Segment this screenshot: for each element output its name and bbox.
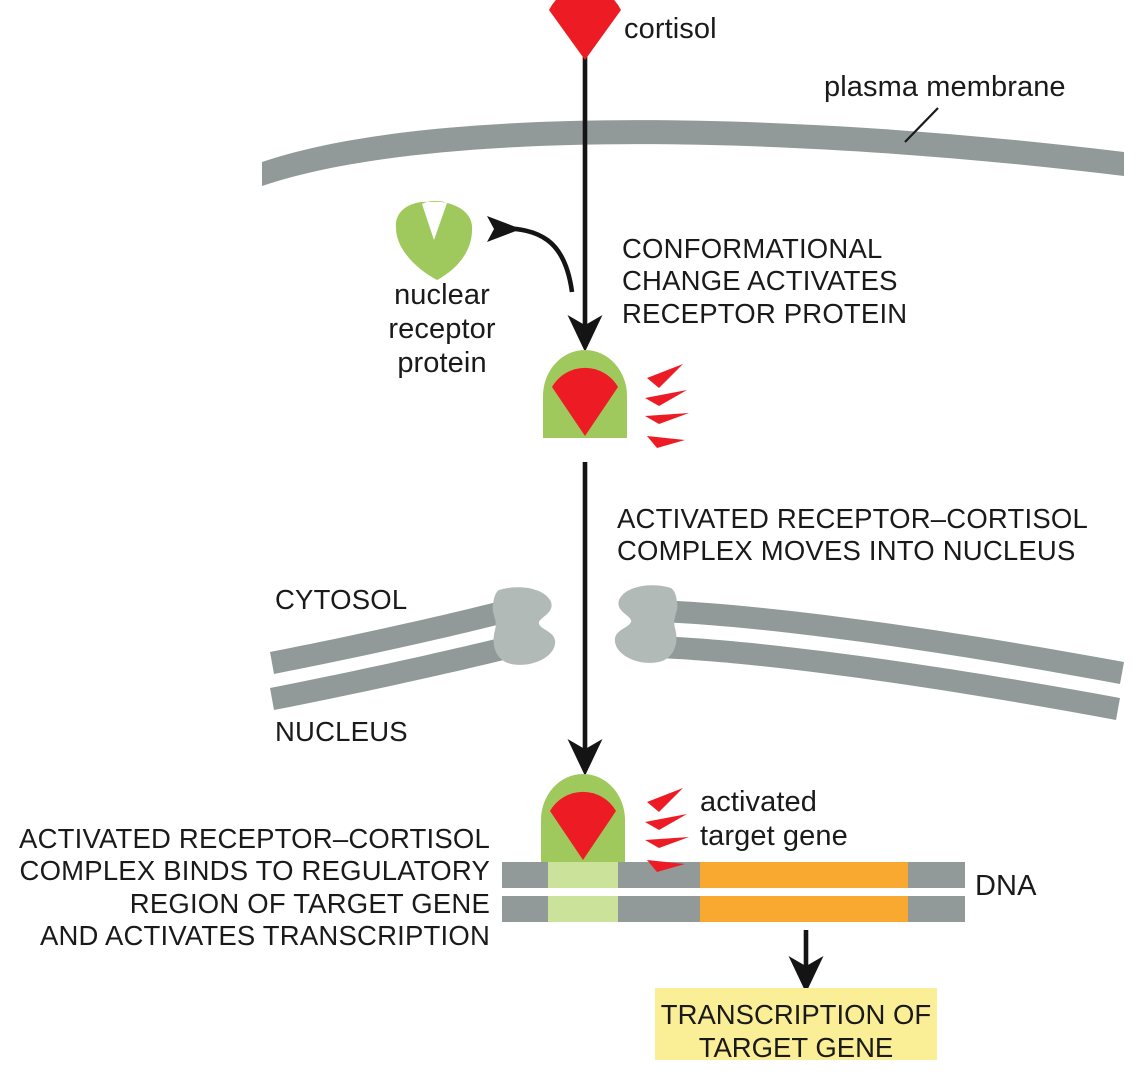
dna-segment-target-gene — [700, 862, 908, 888]
nuclear-receptor-protein-label: nuclear receptor protein — [378, 278, 506, 381]
dna-segment-backbone-left — [502, 862, 548, 888]
red-activation-spark-icon — [645, 364, 689, 448]
cytosol-label: CYTOSOL — [275, 584, 407, 616]
red-activation-spark-icon — [645, 788, 689, 872]
green-receptor-with-bound-cortisol-icon — [543, 350, 627, 438]
plasma-membrane-label: plasma membrane — [824, 70, 1066, 104]
dna-segment-backbone-left — [502, 896, 548, 922]
moves-into-nucleus-step-label: ACTIVATED RECEPTOR–CORTISOL COMPLEX MOVE… — [617, 503, 1088, 568]
dna-segment-backbone-right — [908, 862, 965, 888]
green-receptor-with-bound-cortisol-icon — [541, 774, 625, 862]
transcription-of-target-gene-label: TRANSCRIPTION OF TARGET GENE — [655, 998, 937, 1064]
green-notched-receptor-icon — [396, 201, 472, 280]
dna-segment-target-gene — [700, 896, 908, 922]
dna-label: DNA — [975, 869, 1037, 903]
dna-segment-regulatory-region — [548, 896, 618, 922]
transcription-outcome-box: TRANSCRIPTION OF TARGET GENE — [655, 988, 937, 1060]
cortisol-label: cortisol — [624, 12, 717, 46]
dna-double-bar-icon — [502, 862, 965, 922]
diagram-canvas: cortisol plasma membrane nuclear recepto… — [0, 0, 1145, 1077]
dna-segment-backbone-right — [908, 896, 965, 922]
dna-segment-regulatory-region — [548, 862, 618, 888]
nucleus-label: NUCLEUS — [275, 716, 408, 748]
red-wedge-ligand-icon — [549, 0, 621, 60]
plasma-membrane-icon — [262, 120, 1124, 186]
conformational-change-step-label: CONFORMATIONAL CHANGE ACTIVATES RECEPTOR… — [622, 233, 907, 330]
nuclear-envelope-right-icon — [655, 600, 1124, 720]
dna-segment-backbone-middle — [618, 896, 700, 922]
nuclear-pore-blob-icon — [493, 587, 556, 665]
activated-target-gene-label: activated target gene — [700, 785, 848, 853]
binds-regulatory-region-step-label: ACTIVATED RECEPTOR–CORTISOL COMPLEX BIND… — [10, 823, 490, 953]
nuclear-pore-blob-icon — [615, 585, 678, 663]
